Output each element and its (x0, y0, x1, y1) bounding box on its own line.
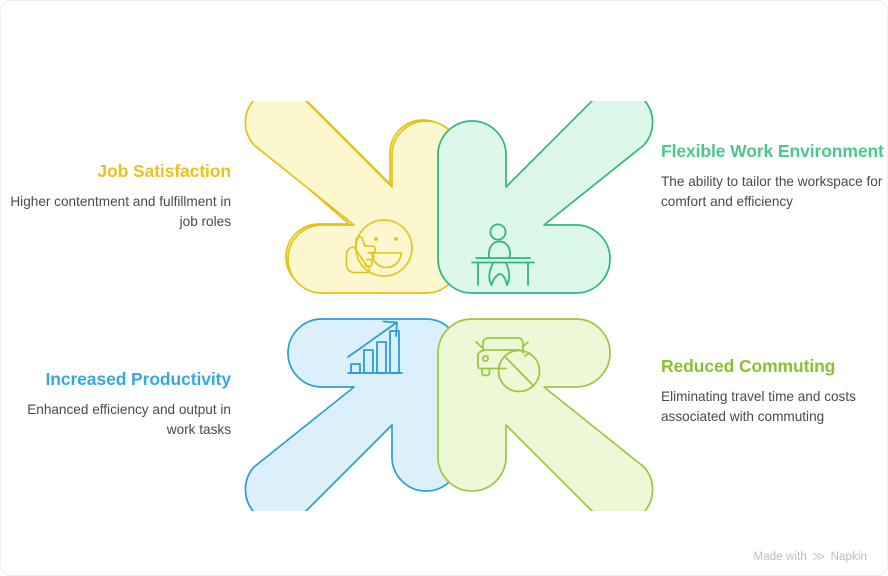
napkin-logo-icon: ≫ (812, 550, 826, 563)
four-arrow-diagram (244, 101, 654, 511)
watermark-prefix: Made with (754, 551, 807, 563)
heading-increased-productivity: Increased Productivity (1, 367, 231, 391)
arrow-shape-job-satisfaction (245, 101, 460, 293)
heading-job-satisfaction: Job Satisfaction (1, 159, 231, 183)
heading-reduced-commuting: Reduced Commuting (661, 354, 888, 378)
heading-flexible-work: Flexible Work Environment (661, 139, 888, 163)
text-block-flexible-work: Flexible Work Environment The ability to… (661, 139, 888, 212)
text-block-job-satisfaction: Job Satisfaction Higher contentment and … (1, 159, 231, 232)
text-block-reduced-commuting: Reduced Commuting Eliminating travel tim… (661, 354, 888, 427)
arrow-shape-flexible-work (438, 101, 653, 293)
napkin-watermark: Made with ≫ Napkin (754, 550, 867, 563)
description-reduced-commuting: Eliminating travel time and costs associ… (661, 387, 888, 426)
arrow-shape-increased-productivity (245, 319, 460, 511)
watermark-brand: Napkin (831, 551, 867, 563)
description-job-satisfaction: Higher contentment and fulfillment in jo… (1, 192, 231, 231)
arrow-shape-reduced-commuting (438, 319, 653, 511)
infographic-canvas: Job Satisfaction Higher contentment and … (0, 0, 888, 576)
description-flexible-work: The ability to tailor the workspace for … (661, 172, 888, 211)
description-increased-productivity: Enhanced efficiency and output in work t… (1, 400, 231, 439)
text-block-increased-productivity: Increased Productivity Enhanced efficien… (1, 367, 231, 440)
